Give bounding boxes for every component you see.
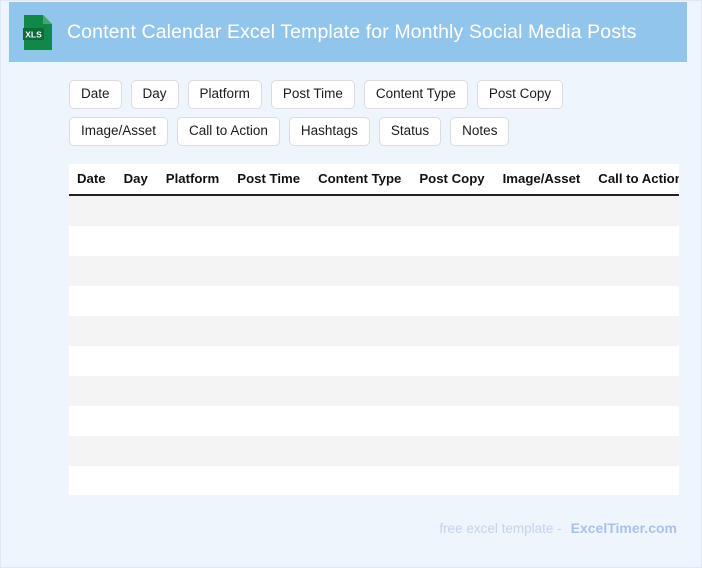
table-cell[interactable] [410, 436, 493, 466]
field-chip-list: Date Day Platform Post Time Content Type… [69, 80, 669, 146]
footer-credit: free excel template - ExcelTimer.com [439, 520, 677, 536]
table-cell[interactable] [115, 195, 157, 226]
column-header-call-to-action[interactable]: Call to Action [589, 164, 679, 195]
table-cell[interactable] [410, 256, 493, 286]
table-cell[interactable] [309, 286, 410, 316]
page-root: XLS Content Calendar Excel Template for … [0, 0, 702, 568]
chip-post-time[interactable]: Post Time [271, 80, 355, 109]
column-header-day[interactable]: Day [115, 164, 157, 195]
table-cell[interactable] [228, 406, 309, 436]
chip-call-to-action[interactable]: Call to Action [177, 117, 280, 146]
table-cell[interactable] [589, 346, 679, 376]
table-cell[interactable] [69, 436, 115, 466]
chip-platform[interactable]: Platform [188, 80, 262, 109]
table-cell[interactable] [309, 466, 410, 495]
table-cell[interactable] [589, 256, 679, 286]
table-cell[interactable] [69, 226, 115, 256]
table-row[interactable] [69, 226, 679, 256]
table-row[interactable] [69, 346, 679, 376]
table-cell[interactable] [69, 406, 115, 436]
table-cell[interactable] [69, 256, 115, 286]
table-cell[interactable] [410, 376, 493, 406]
chip-date[interactable]: Date [69, 80, 122, 109]
table-cell[interactable] [494, 466, 590, 495]
table-cell[interactable] [494, 376, 590, 406]
table-row[interactable] [69, 256, 679, 286]
table-body [69, 195, 679, 495]
table-cell[interactable] [494, 316, 590, 346]
table-cell[interactable] [309, 346, 410, 376]
table-cell[interactable] [589, 466, 679, 495]
table-cell[interactable] [157, 226, 229, 256]
table-cell[interactable] [589, 286, 679, 316]
table-cell[interactable] [157, 406, 229, 436]
chip-status[interactable]: Status [379, 117, 441, 146]
table-cell[interactable] [410, 195, 493, 226]
table-cell[interactable] [309, 195, 410, 226]
table-cell[interactable] [589, 406, 679, 436]
table-cell[interactable] [228, 195, 309, 226]
table-cell[interactable] [69, 346, 115, 376]
column-header-post-copy[interactable]: Post Copy [410, 164, 493, 195]
table-row[interactable] [69, 436, 679, 466]
table-cell[interactable] [228, 256, 309, 286]
footer-brand-link[interactable]: ExcelTimer.com [571, 520, 677, 536]
table-cell[interactable] [157, 195, 229, 226]
table-cell[interactable] [589, 195, 679, 226]
column-header-content-type[interactable]: Content Type [309, 164, 410, 195]
table-cell[interactable] [589, 376, 679, 406]
table-cell[interactable] [410, 346, 493, 376]
chip-image-asset[interactable]: Image/Asset [69, 117, 168, 146]
table-cell[interactable] [115, 376, 157, 406]
table-cell[interactable] [589, 436, 679, 466]
table-row[interactable] [69, 316, 679, 346]
table-cell[interactable] [410, 226, 493, 256]
table-cell[interactable] [157, 346, 229, 376]
table-cell[interactable] [494, 286, 590, 316]
table-cell[interactable] [228, 226, 309, 256]
table-cell[interactable] [309, 406, 410, 436]
table-cell[interactable] [228, 286, 309, 316]
table-cell[interactable] [69, 286, 115, 316]
column-header-post-time[interactable]: Post Time [228, 164, 309, 195]
table-cell[interactable] [69, 466, 115, 495]
column-header-image-asset[interactable]: Image/Asset [494, 164, 590, 195]
table-cell[interactable] [228, 346, 309, 376]
chip-content-type[interactable]: Content Type [364, 80, 468, 109]
table-cell[interactable] [410, 406, 493, 436]
column-header-date[interactable]: Date [69, 164, 115, 195]
table-cell[interactable] [309, 226, 410, 256]
chip-day[interactable]: Day [131, 80, 179, 109]
table-row[interactable] [69, 376, 679, 406]
chip-hashtags[interactable]: Hashtags [289, 117, 370, 146]
table-cell[interactable] [228, 466, 309, 495]
table-cell[interactable] [410, 466, 493, 495]
table-cell[interactable] [589, 226, 679, 256]
table-cell[interactable] [309, 316, 410, 346]
chip-post-copy[interactable]: Post Copy [477, 80, 563, 109]
table-row[interactable] [69, 466, 679, 495]
table-cell[interactable] [115, 256, 157, 286]
table-cell[interactable] [228, 436, 309, 466]
footer-note: free excel template - [439, 521, 561, 536]
table-cell[interactable] [115, 286, 157, 316]
table-cell[interactable] [69, 376, 115, 406]
table-cell[interactable] [115, 346, 157, 376]
table-cell[interactable] [157, 466, 229, 495]
xls-file-icon: XLS [23, 14, 53, 51]
table-cell[interactable] [228, 316, 309, 346]
table-cell[interactable] [115, 226, 157, 256]
table-cell[interactable] [309, 436, 410, 466]
table-cell[interactable] [115, 436, 157, 466]
table-cell[interactable] [309, 256, 410, 286]
table-row[interactable] [69, 406, 679, 436]
table-header-row: Date Day Platform Post Time Content Type… [69, 164, 679, 195]
table-cell[interactable] [589, 316, 679, 346]
table-cell[interactable] [309, 376, 410, 406]
table-cell[interactable] [157, 286, 229, 316]
table-cell[interactable] [494, 226, 590, 256]
table-cell[interactable] [157, 316, 229, 346]
table-cell[interactable] [494, 346, 590, 376]
content-calendar-table-wrapper[interactable]: Date Day Platform Post Time Content Type… [69, 164, 679, 495]
table-cell[interactable] [494, 406, 590, 436]
table-cell[interactable] [494, 195, 590, 226]
svg-text:XLS: XLS [25, 29, 42, 39]
table-cell[interactable] [115, 316, 157, 346]
table-cell[interactable] [115, 466, 157, 495]
chip-notes[interactable]: Notes [450, 117, 509, 146]
table-cell[interactable] [494, 256, 590, 286]
table-row[interactable] [69, 195, 679, 226]
table-cell[interactable] [228, 376, 309, 406]
table-cell[interactable] [157, 436, 229, 466]
page-title: Content Calendar Excel Template for Mont… [67, 21, 636, 44]
table-cell[interactable] [69, 195, 115, 226]
page-header: XLS Content Calendar Excel Template for … [9, 2, 687, 62]
table-cell[interactable] [115, 406, 157, 436]
table-cell[interactable] [69, 316, 115, 346]
column-header-platform[interactable]: Platform [157, 164, 229, 195]
table-cell[interactable] [410, 286, 493, 316]
content-calendar-table: Date Day Platform Post Time Content Type… [69, 164, 679, 495]
table-cell[interactable] [410, 316, 493, 346]
table-cell[interactable] [157, 256, 229, 286]
table-cell[interactable] [494, 436, 590, 466]
table-head: Date Day Platform Post Time Content Type… [69, 164, 679, 195]
table-cell[interactable] [157, 376, 229, 406]
table-row[interactable] [69, 286, 679, 316]
